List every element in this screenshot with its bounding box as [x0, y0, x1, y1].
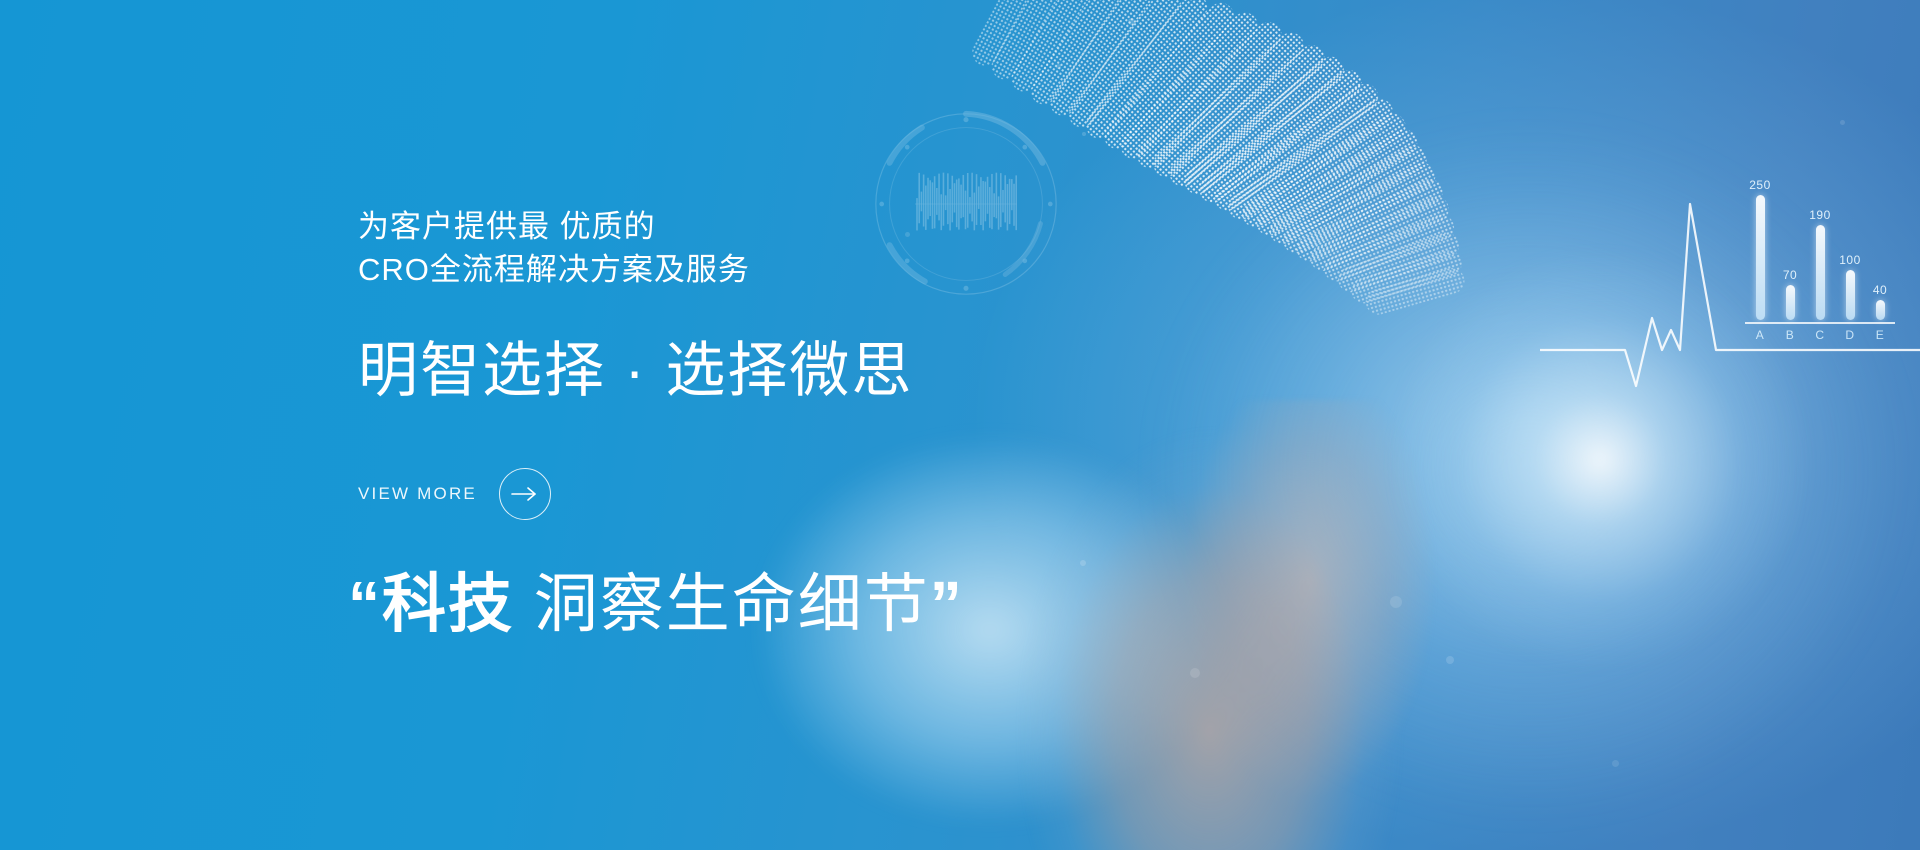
- bar-column: 100: [1845, 270, 1855, 320]
- bar-value-label: 70: [1783, 268, 1797, 282]
- bokeh-dot: [1840, 120, 1845, 125]
- bokeh-dot: [1390, 596, 1402, 608]
- bar-value-label: 250: [1749, 178, 1771, 192]
- hero-subtitle-line-1: 为客户提供最 优质的: [358, 205, 750, 248]
- bar-column: 70: [1785, 285, 1795, 320]
- dna-rung: [1209, 79, 1383, 216]
- quote-open-mark: “: [348, 568, 382, 640]
- bar-value-label: 190: [1809, 208, 1831, 222]
- dna-rung: [1279, 158, 1440, 258]
- fingertip-glow: [1390, 250, 1810, 670]
- dna-rung: [1148, 27, 1309, 182]
- bar-chart: 2507019010040 ABCDE: [1745, 195, 1895, 360]
- dna-rung: [1251, 125, 1422, 241]
- dna-rung: [1320, 210, 1458, 285]
- bar: [1816, 225, 1825, 320]
- hero-subtitle: 为客户提供最 优质的 CRO全流程解决方案及服务: [358, 205, 750, 291]
- quote-close-mark: ”: [930, 568, 964, 640]
- dna-rung: [1223, 94, 1397, 225]
- quote-light-text: 洞察生命细节: [514, 568, 930, 640]
- bar-column: 190: [1815, 225, 1825, 320]
- hero-subtitle-line-2: CRO全流程解决方案及服务: [358, 248, 750, 291]
- dna-rung: [1348, 246, 1465, 306]
- ecg-line-icon: [1540, 190, 1920, 420]
- hero-quote: “科技 洞察生命细节”: [348, 558, 964, 650]
- view-more-button[interactable]: VIEW MORE: [358, 468, 551, 520]
- background-glow-wide: [1150, 120, 1910, 820]
- bar-category-label: E: [1865, 328, 1895, 342]
- bar-chart-axis: [1745, 322, 1895, 324]
- bokeh-dot: [1190, 668, 1200, 678]
- dna-rung: [1334, 228, 1462, 295]
- quote-strong-text: 科技: [382, 568, 514, 640]
- dna-rung: [1362, 265, 1468, 318]
- bar: [1876, 300, 1885, 320]
- bar-category-label: B: [1775, 328, 1805, 342]
- hero-headline: 明智选择 · 选择微思: [358, 333, 913, 409]
- bar-column: 40: [1875, 300, 1885, 320]
- dna-rung: [1179, 52, 1349, 200]
- bar: [1846, 270, 1855, 320]
- bar-chart-categories: ABCDE: [1745, 328, 1895, 342]
- bar: [1756, 195, 1765, 320]
- bar-category-label: D: [1835, 328, 1865, 342]
- bar-column: 250: [1755, 195, 1765, 320]
- bar-category-label: C: [1805, 328, 1835, 342]
- bar-value-label: 100: [1839, 253, 1861, 267]
- dna-rung: [1194, 65, 1367, 208]
- dna-rung: [1238, 109, 1411, 233]
- bokeh-dot: [1446, 656, 1454, 664]
- bar-category-label: A: [1745, 328, 1775, 342]
- hero-content: 为客户提供最 优质的 CRO全流程解决方案及服务 明智选择 · 选择微思 VIE…: [358, 0, 1138, 850]
- view-more-label: VIEW MORE: [358, 484, 477, 504]
- dna-rung: [1293, 175, 1448, 266]
- bokeh-dot: [1612, 760, 1619, 767]
- bar-chart-plot: 2507019010040: [1745, 195, 1895, 320]
- hero-banner: 2507019010040 ABCDE 为客户提供最 优质的 CRO全流程解决方…: [0, 0, 1920, 850]
- bar: [1786, 285, 1795, 320]
- bar-value-label: 40: [1873, 283, 1887, 297]
- dna-rung: [1265, 141, 1432, 249]
- dna-rung: [1306, 193, 1453, 276]
- dna-rung: [1164, 39, 1330, 191]
- dna-rung: [1132, 17, 1287, 174]
- arrow-right-icon[interactable]: [499, 468, 551, 520]
